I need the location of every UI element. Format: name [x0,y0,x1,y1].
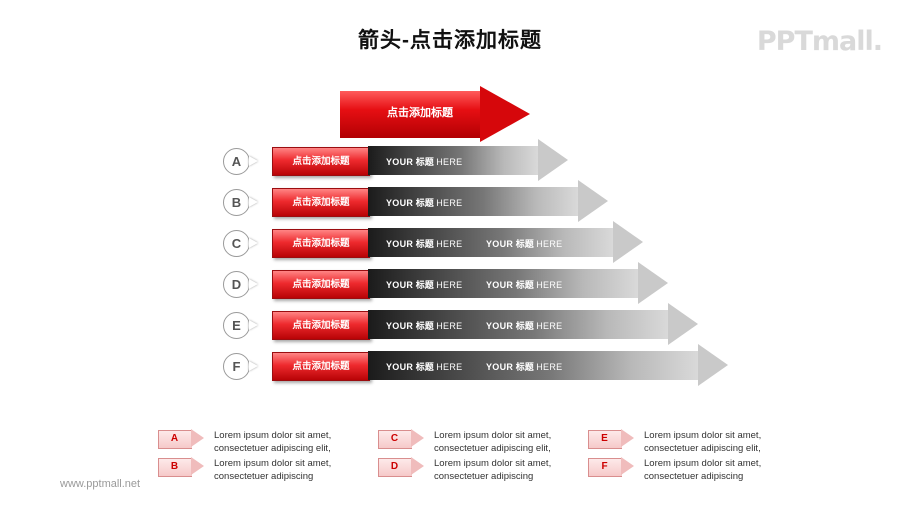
row-text-a-1: YOUR 标题 HERE [386,155,462,168]
row-button-label-f: 点击添加标题 [273,353,369,380]
row-pointer-icon [249,238,258,248]
row-marker-f[interactable]: F [223,353,250,380]
legend-arrow-icon: B [158,458,204,475]
row-text-en2: HERE [536,321,562,331]
row-button-d[interactable]: 点击添加标题 [272,270,370,299]
legend-item-a[interactable]: A Lorem ipsum dolor sit amet, consectetu… [158,430,204,447]
row-text-en2: HERE [436,321,462,331]
row-text-cn: 标题 [516,280,534,290]
legend-item-e[interactable]: E Lorem ipsum dolor sit amet, consectetu… [588,430,634,447]
legend-arrow-icon: C [378,430,424,447]
row-gray-arrow-head [538,139,568,181]
legend-text-f: Lorem ipsum dolor sit amet, consectetuer… [644,457,804,483]
row-pointer-icon [249,156,258,166]
row-text-en2: HERE [436,280,462,290]
row-button-label-d: 点击添加标题 [273,271,369,298]
row-text-en: YOUR [386,239,413,249]
row-text-e-1: YOUR 标题 HERE [386,319,462,332]
row-text-b-1: YOUR 标题 HERE [386,196,462,209]
legend-letter-a: A [158,430,191,447]
row-text-en: YOUR [386,362,413,372]
row-gray-arrow-c: YOUR 标题 HERE YOUR 标题 HERE [368,228,643,257]
row-text-c-2: YOUR 标题 HERE [486,237,562,250]
row-text-en2: HERE [436,362,462,372]
legend-text-b: Lorem ipsum dolor sit amet, consectetuer… [214,457,374,483]
row-text-cn: 标题 [516,321,534,331]
row-text-en: YOUR [386,198,413,208]
row-text-en2: HERE [436,239,462,249]
row-button-f[interactable]: 点击添加标题 [272,352,370,381]
row-button-c[interactable]: 点击添加标题 [272,229,370,258]
legend-letter-e: E [588,430,621,447]
row-gray-arrow-head [638,262,668,304]
row-button-label-e: 点击添加标题 [273,312,369,339]
row-pointer-icon [249,361,258,371]
row-button-e[interactable]: 点击添加标题 [272,311,370,340]
row-gray-arrow-head [698,344,728,386]
brand-logo: PPTmall. [757,26,882,57]
row-text-cn: 标题 [516,362,534,372]
legend-text-a: Lorem ipsum dolor sit amet, consectetuer… [214,429,374,455]
row-button-label-b: 点击添加标题 [273,189,369,216]
row-gray-arrow-f: YOUR 标题 HERE YOUR 标题 HERE [368,351,728,380]
row-gray-arrow-e: YOUR 标题 HERE YOUR 标题 HERE [368,310,698,339]
top-red-arrow[interactable]: 点击添加标题 [340,86,530,143]
row-text-en2: HERE [436,198,462,208]
row-text-c-1: YOUR 标题 HERE [386,237,462,250]
row-text-en2: HERE [436,157,462,167]
legend-arrow-head [191,429,204,447]
row-button-a[interactable]: 点击添加标题 [272,147,370,176]
row-text-en: YOUR [486,362,513,372]
row-text-f-1: YOUR 标题 HERE [386,360,462,373]
row-gray-arrow-head [668,303,698,345]
row-text-cn: 标题 [416,362,434,372]
row-text-en: YOUR [386,157,413,167]
row-text-cn: 标题 [516,239,534,249]
row-marker-d[interactable]: D [223,271,250,298]
row-text-en: YOUR [386,280,413,290]
legend-arrow-head [621,429,634,447]
row-text-en2: HERE [536,280,562,290]
legend-text-d: Lorem ipsum dolor sit amet, consectetuer… [434,457,594,483]
legend-letter-b: B [158,458,191,475]
legend-arrow-icon: E [588,430,634,447]
legend-letter-c: C [378,430,411,447]
legend-arrow-head [411,457,424,475]
row-button-label-a: 点击添加标题 [273,148,369,175]
row-text-en2: HERE [536,239,562,249]
row-button-label-c: 点击添加标题 [273,230,369,257]
legend-arrow-icon: F [588,458,634,475]
row-pointer-icon [249,197,258,207]
row-text-cn: 标题 [416,198,434,208]
brand-logo-text: PPTmall [757,26,873,57]
row-gray-arrow-head [578,180,608,222]
legend-arrow-icon: D [378,458,424,475]
row-marker-a[interactable]: A [223,148,250,175]
row-marker-b[interactable]: B [223,189,250,216]
row-marker-c[interactable]: C [223,230,250,257]
row-gray-arrow-head [613,221,643,263]
legend-arrow-icon: A [158,430,204,447]
legend-arrow-head [191,457,204,475]
legend-item-b[interactable]: B Lorem ipsum dolor sit amet, consectetu… [158,458,204,475]
row-text-d-1: YOUR 标题 HERE [386,278,462,291]
row-pointer-icon [249,279,258,289]
row-text-d-2: YOUR 标题 HERE [486,278,562,291]
row-text-cn: 标题 [416,321,434,331]
legend-arrow-head [621,457,634,475]
row-text-f-2: YOUR 标题 HERE [486,360,562,373]
row-text-en: YOUR [486,321,513,331]
row-text-en: YOUR [386,321,413,331]
row-text-e-2: YOUR 标题 HERE [486,319,562,332]
legend-item-f[interactable]: F Lorem ipsum dolor sit amet, consectetu… [588,458,634,475]
legend-text-e: Lorem ipsum dolor sit amet, consectetuer… [644,429,804,455]
legend-item-d[interactable]: D Lorem ipsum dolor sit amet, consectetu… [378,458,424,475]
row-gray-arrow-d: YOUR 标题 HERE YOUR 标题 HERE [368,269,668,298]
row-text-cn: 标题 [416,239,434,249]
legend-item-c[interactable]: C Lorem ipsum dolor sit amet, consectetu… [378,430,424,447]
row-gray-arrow-a: YOUR 标题 HERE [368,146,568,175]
brand-logo-dot: . [873,26,882,57]
row-text-cn: 标题 [416,280,434,290]
footer-url: www.pptmall.net [60,478,140,490]
row-text-cn: 标题 [416,157,434,167]
row-button-b[interactable]: 点击添加标题 [272,188,370,217]
row-gray-arrow-b: YOUR 标题 HERE [368,187,608,216]
top-red-arrow-label: 点击添加标题 [350,104,490,120]
legend-letter-f: F [588,458,621,475]
row-marker-e[interactable]: E [223,312,250,339]
legend-letter-d: D [378,458,411,475]
legend-text-c: Lorem ipsum dolor sit amet, consectetuer… [434,429,594,455]
row-text-en: YOUR [486,239,513,249]
row-text-en2: HERE [536,362,562,372]
row-pointer-icon [249,320,258,330]
row-text-en: YOUR [486,280,513,290]
legend-arrow-head [411,429,424,447]
